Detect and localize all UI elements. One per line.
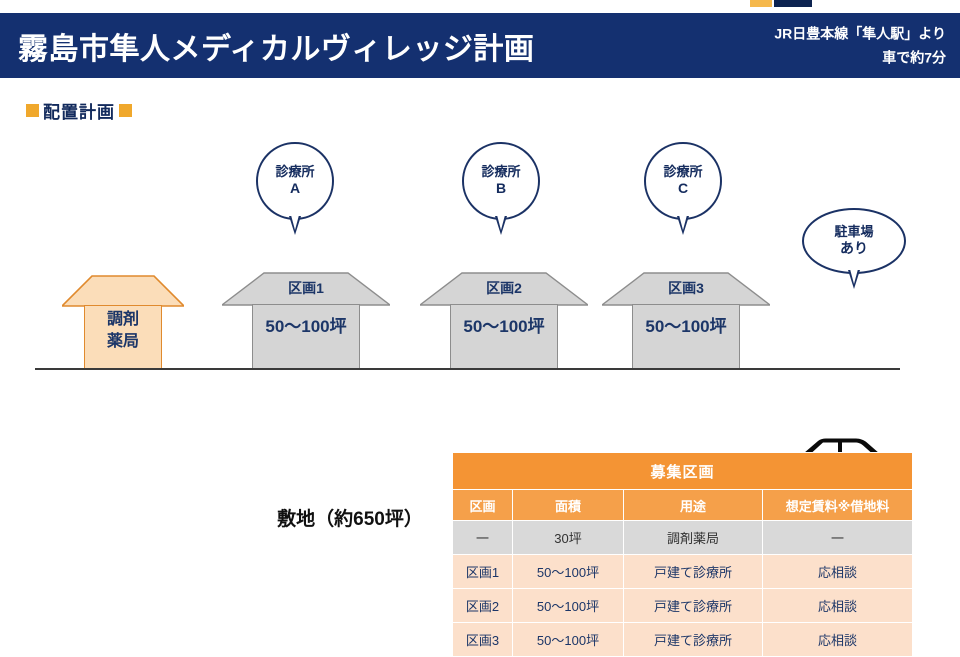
house-plot-2: 区画2 50〜100坪 (420, 272, 588, 369)
house-plot-3: 区画3 50〜100坪 (602, 272, 770, 369)
plot-1-name: 区画1 (222, 278, 390, 298)
plot-3-name: 区画3 (602, 278, 770, 298)
column-header-area: 面積 (513, 490, 624, 521)
corner-mark-orange (750, 0, 772, 7)
bubble-tail-b (495, 216, 507, 235)
plot-2-name: 区画2 (420, 278, 588, 298)
bubble-parking: 駐車場 あり (802, 208, 906, 274)
page-header: 霧島市隼人メディカルヴィレッジ計画 JR日豊本線「隼人駅」より 車で約7分 (0, 13, 960, 78)
plot-1-area: 50〜100坪 (222, 312, 390, 337)
square-marker-icon-left (26, 104, 39, 117)
plot-3-area: 50〜100坪 (602, 312, 770, 337)
cell-usage: 戸建て診療所 (624, 589, 763, 623)
cell-plot: 一 (453, 521, 513, 555)
cell-rent: 応相談 (763, 555, 913, 589)
bubble-clinic-a: 診療所 A (256, 142, 334, 220)
bubble-clinic-b: 診療所 B (462, 142, 540, 220)
pharmacy-label-line1: 調剤 (62, 309, 184, 331)
corner-mark-navy (774, 0, 812, 7)
bubble-clinic-c-line2: C (678, 180, 688, 198)
table-header-row: 区画 面積 用途 想定賃料※借地料 (453, 490, 913, 521)
recruit-table: 募集区画 区画 面積 用途 想定賃料※借地料 一 30坪 調剤薬局 一 区画1 … (452, 452, 913, 657)
bubble-tail-parking (848, 270, 860, 289)
cell-plot: 区画1 (453, 555, 513, 589)
page-title: 霧島市隼人メディカルヴィレッジ計画 (18, 24, 534, 68)
bubble-clinic-b-line2: B (496, 180, 506, 198)
square-marker-icon-right (119, 104, 132, 117)
pharmacy-label: 調剤 薬局 (62, 309, 184, 352)
cell-area: 50〜100坪 (513, 589, 624, 623)
cell-area: 50〜100坪 (513, 555, 624, 589)
column-header-usage: 用途 (624, 490, 763, 521)
access-info: JR日豊本線「隼人駅」より 車で約7分 (774, 21, 946, 70)
table-row: 一 30坪 調剤薬局 一 (453, 521, 913, 555)
access-line-1: JR日豊本線「隼人駅」より (774, 21, 946, 46)
cell-rent: 応相談 (763, 589, 913, 623)
corner-marks (750, 0, 910, 8)
cell-plot: 区画2 (453, 589, 513, 623)
table-title: 募集区画 (453, 453, 913, 490)
bubble-tail-a (289, 216, 301, 235)
bubble-clinic-c-line1: 診療所 (663, 164, 702, 180)
house-pharmacy: 調剤 薬局 (62, 275, 184, 369)
bubble-clinic-c: 診療所 C (644, 142, 722, 220)
bubble-clinic-a-line2: A (290, 180, 300, 198)
plot-2-area: 50〜100坪 (420, 312, 588, 337)
house-plot-1: 区画1 50〜100坪 (222, 272, 390, 369)
cell-rent: 一 (763, 521, 913, 555)
cell-usage: 調剤薬局 (624, 521, 763, 555)
table-row: 区画1 50〜100坪 戸建て診療所 応相談 (453, 555, 913, 589)
cell-area: 30坪 (513, 521, 624, 555)
column-header-rent: 想定賃料※借地料 (763, 490, 913, 521)
bubble-tail-c (677, 216, 689, 235)
table-row: 区画2 50〜100坪 戸建て診療所 応相談 (453, 589, 913, 623)
pharmacy-label-line2: 薬局 (62, 331, 184, 353)
access-line-2: 車で約7分 (774, 46, 946, 71)
bubble-clinic-a-line1: 診療所 (275, 164, 314, 180)
bubble-parking-line1: 駐車場 (834, 224, 873, 240)
roof-shape-pharmacy (62, 275, 184, 307)
bubble-clinic-b-line1: 診療所 (481, 164, 520, 180)
bubble-parking-line2: あり (840, 240, 868, 258)
ground-line (35, 368, 900, 370)
site-layout-diagram: 診療所 A 診療所 B 診療所 C 駐車場 あり 調剤 薬局 区 (0, 120, 960, 420)
cell-usage: 戸建て診療所 (624, 555, 763, 589)
table-title-row: 募集区画 (453, 453, 913, 490)
column-header-plot: 区画 (453, 490, 513, 521)
recruit-table-wrapper: 募集区画 区画 面積 用途 想定賃料※借地料 一 30坪 調剤薬局 一 区画1 … (452, 452, 912, 657)
